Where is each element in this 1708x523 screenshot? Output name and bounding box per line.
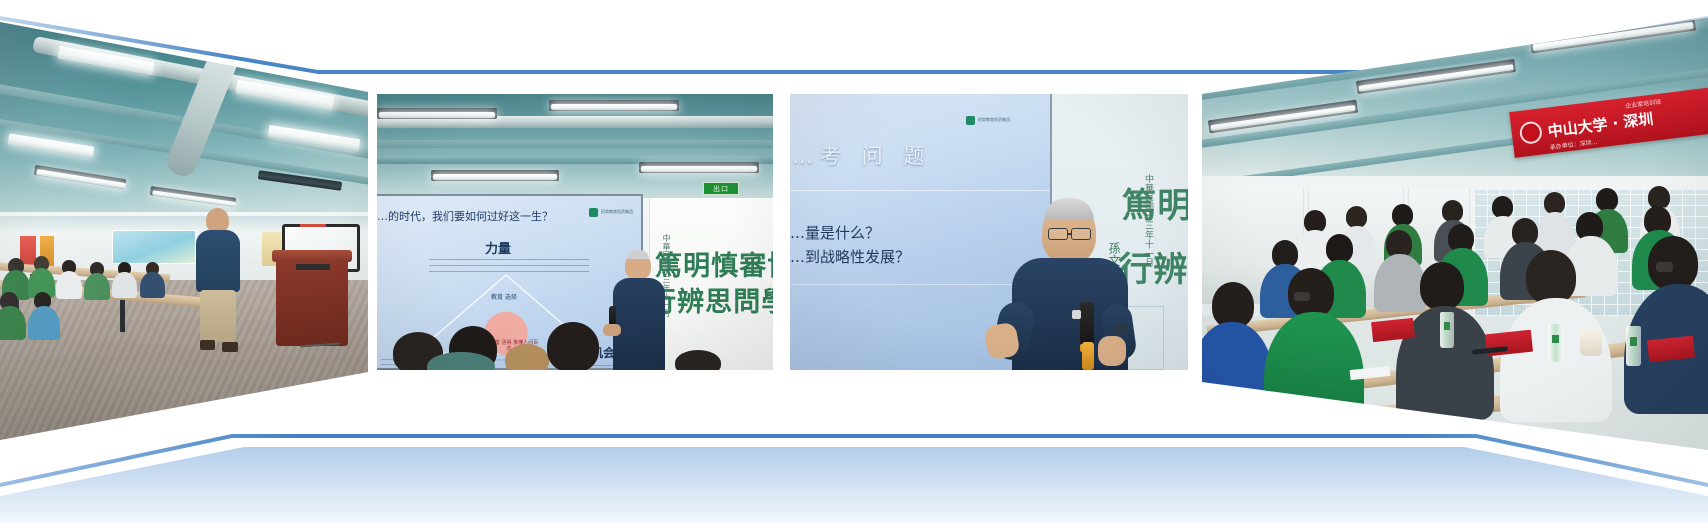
photo-gallery-stage: 出口 …的时代，我们要如何过好这一生？ 招商教育投资集团 力量 [0, 0, 1708, 523]
slide-3-vendor-logo: 招商教育投资集团 [966, 116, 1010, 125]
slide-3-speaker-glasses [1048, 228, 1068, 240]
slide-3-slide-line-1: …量是什么？ [790, 222, 880, 243]
slide-3-calligraphy-line-1: 篤明 [1122, 178, 1188, 227]
vendor-logo-mark [589, 208, 598, 217]
slide-3-slide-title: …考 问 题 [792, 140, 931, 170]
slide-1-photo [0, 0, 372, 440]
water-bottle [1626, 326, 1641, 366]
slide-4-photo: 企业家培训班 中山大学 · 深圳 承办单位：深圳… [1196, 0, 1708, 450]
vendor-logo-mark [966, 116, 975, 125]
slide-2-calligraphy-line-1: 篤明慎審博 [655, 244, 773, 283]
exit-sign-text: 出口 [713, 184, 729, 194]
exit-sign: 出口 [703, 182, 739, 195]
slide-3-calligraphy-column: 中華民國十三年十一月 [1142, 174, 1155, 268]
slide-2-vendor-logo: 招商教育投资集团 [589, 208, 633, 217]
slide-2-photo: 出口 …的时代，我们要如何过好这一生？ 招商教育投资集团 力量 [377, 94, 773, 370]
slide-3-slide-line-2: …到战略性发展？ [790, 246, 910, 267]
slide-2-diagram-top-label: 力量 [485, 238, 511, 257]
university-seal [1519, 120, 1544, 145]
water-bottle [1548, 324, 1563, 362]
slide-3-photo: …考 问 题 招商教育投资集团 …量是什么？ …到战略性发展？ 篤明 行辨 中華… [790, 94, 1188, 370]
paper-cup [1580, 330, 1602, 356]
water-bottle [1440, 312, 1454, 348]
gallery-slide-1[interactable] [0, 0, 372, 440]
gallery-slide-4[interactable]: 企业家培训班 中山大学 · 深圳 承办单位：深圳… [1196, 0, 1708, 450]
gallery-slide-2[interactable]: 出口 …的时代，我们要如何过好这一生？ 招商教育投资集团 力量 [377, 94, 773, 370]
vendor-logo-text: 招商教育投资集团 [601, 210, 633, 215]
gallery-slide-3[interactable]: …考 问 题 招商教育投资集团 …量是什么？ …到战略性发展？ 篤明 行辨 中華… [790, 94, 1188, 370]
slide-3-microphone [1080, 302, 1094, 346]
slide-2-apex-label: 教育 选择 [491, 292, 517, 301]
slide-2-headline: …的时代，我们要如何过好这一生？ [377, 208, 553, 224]
vendor-logo-text: 招商教育投资集团 [978, 118, 1010, 123]
